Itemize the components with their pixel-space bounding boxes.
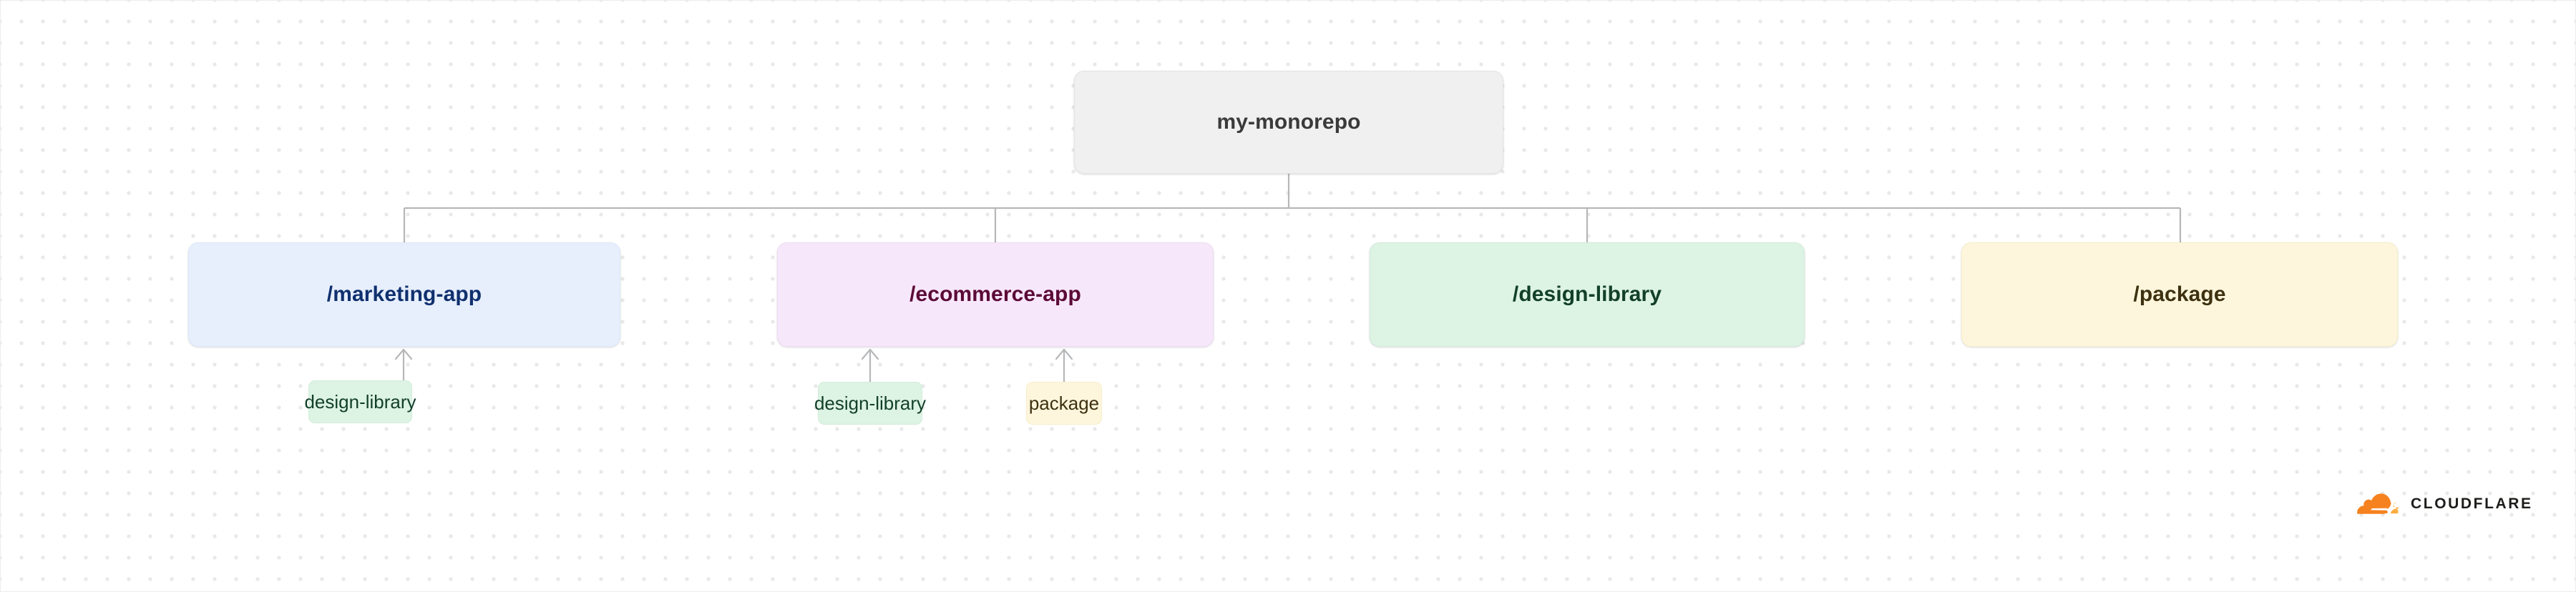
cloudflare-wordmark: CLOUDFLARE [2411, 496, 2533, 511]
node-my-monorepo[interactable]: my-monorepo [1074, 71, 1503, 174]
cloudflare-logo: CLOUDFLARE [2355, 491, 2533, 515]
node-package[interactable]: /package [1961, 242, 2398, 347]
node-ecommerce-app[interactable]: /ecommerce-app [777, 242, 1214, 347]
dep-arrowhead-ecommerce-design [862, 350, 878, 359]
diagram-canvas: my-monorepo /marketing-app /ecommerce-ap… [0, 0, 2576, 592]
dep-arrowhead-marketing-design [396, 350, 411, 359]
node-label: /design-library [1513, 282, 1662, 307]
node-label: /package [2133, 282, 2225, 307]
node-label: /marketing-app [327, 282, 482, 307]
dependency-tag-package[interactable]: package [1026, 382, 1102, 425]
node-label: my-monorepo [1216, 110, 1360, 134]
dependency-tag-design-library[interactable]: design-library [818, 382, 922, 425]
node-marketing-app[interactable]: /marketing-app [188, 242, 620, 347]
dependency-tag-design-library[interactable]: design-library [308, 380, 412, 423]
cloudflare-cloud-icon [2355, 491, 2404, 515]
node-label: /ecommerce-app [909, 282, 1081, 307]
dep-arrowhead-ecommerce-package [1056, 350, 1072, 359]
node-design-library[interactable]: /design-library [1370, 242, 1805, 347]
